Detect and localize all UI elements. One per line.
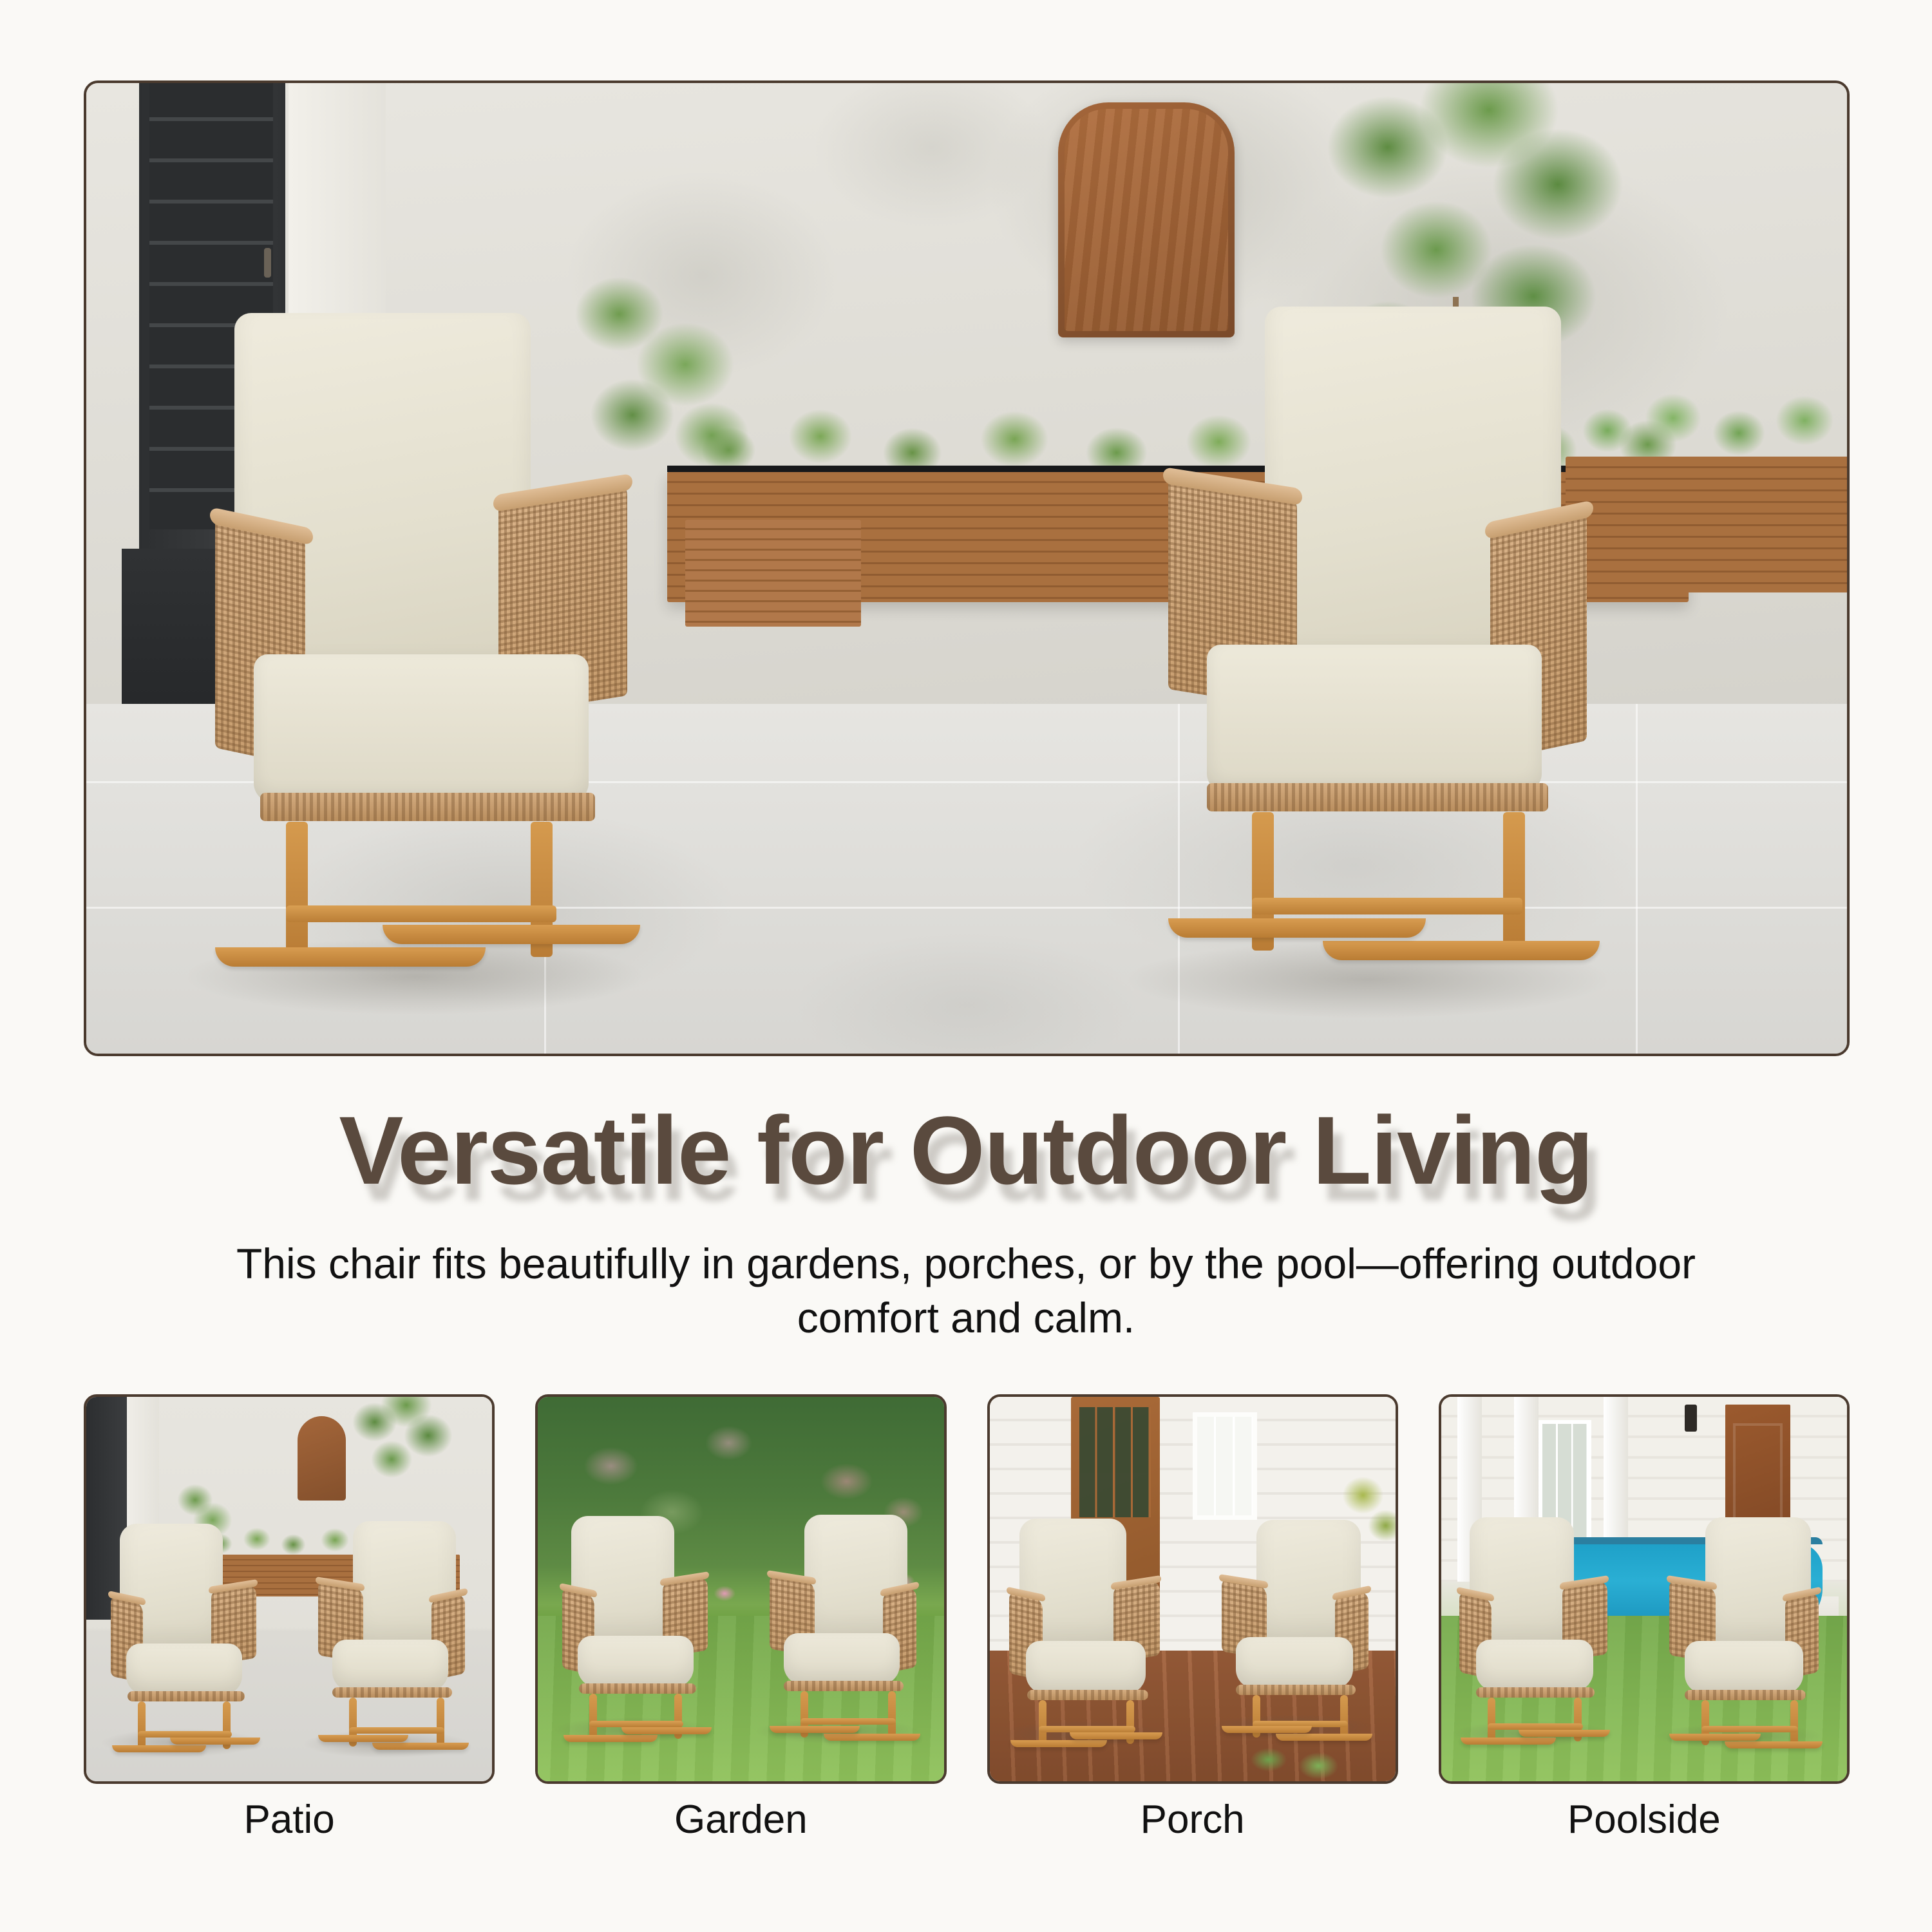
left-chair-rocker-near [215, 947, 486, 967]
thumbnail-card-porch[interactable] [987, 1394, 1398, 1784]
left-rocking-chair [196, 313, 672, 1054]
patio-thumb-left-chair [106, 1524, 267, 1781]
garden-thumb-right-chair [757, 1515, 924, 1768]
label-garden: Garden [535, 1797, 946, 1842]
scene-thumbnail-row [84, 1394, 1850, 1784]
hero-image-card [84, 80, 1850, 1056]
thumbnail-label-row: Patio Garden Porch Poolside [84, 1797, 1850, 1842]
porch-thumb-left-chair [1005, 1519, 1170, 1771]
right-chair-rocker-far [1168, 918, 1426, 938]
small-wood-planter [685, 520, 861, 627]
label-patio: Patio [84, 1797, 495, 1842]
page-title: Versatile for Outdoor Living [0, 1095, 1932, 1206]
page-subtitle: This chair fits beautifully in gardens, … [213, 1236, 1719, 1345]
patio-thumb-right-chair [305, 1521, 473, 1781]
hero-scene [86, 83, 1847, 1054]
left-chair-front-leg [286, 822, 308, 957]
label-porch: Porch [987, 1797, 1398, 1842]
right-rocking-chair [1130, 307, 1619, 1054]
porch-scene [990, 1397, 1396, 1781]
patio-scene [86, 1397, 492, 1781]
garden-scene [538, 1397, 943, 1781]
thumbnail-card-garden[interactable] [535, 1394, 946, 1784]
label-poolside: Poolside [1439, 1797, 1850, 1842]
porch-window [1193, 1412, 1258, 1520]
right-chair-wicker-skirt [1207, 783, 1548, 811]
thumbnail-card-patio[interactable] [84, 1394, 495, 1784]
door-handle-icon [264, 248, 271, 278]
right-chair-rocker-near [1323, 941, 1600, 960]
right-chair-seat-cushion [1207, 645, 1542, 793]
left-chair-stretcher [286, 905, 556, 922]
thumbnail-card-poolside[interactable] [1439, 1394, 1850, 1784]
pool-thumb-left-chair [1455, 1517, 1618, 1770]
wall-lantern-icon [1685, 1405, 1697, 1432]
poolside-scene [1441, 1397, 1847, 1781]
marketing-infographic-page: Versatile for Outdoor Living This chair … [0, 0, 1932, 1932]
porch-thumb-right-chair [1210, 1520, 1376, 1763]
right-chair-stretcher [1252, 898, 1522, 914]
left-chair-seat-cushion [254, 654, 589, 802]
garden-thumb-left-chair [557, 1516, 718, 1767]
left-chair-rocker-far [383, 925, 640, 944]
right-chair-front-leg [1503, 812, 1525, 951]
pool-thumb-right-chair [1658, 1517, 1826, 1774]
wood-arch-plaque [1058, 102, 1234, 337]
left-chair-wicker-skirt [260, 793, 595, 821]
